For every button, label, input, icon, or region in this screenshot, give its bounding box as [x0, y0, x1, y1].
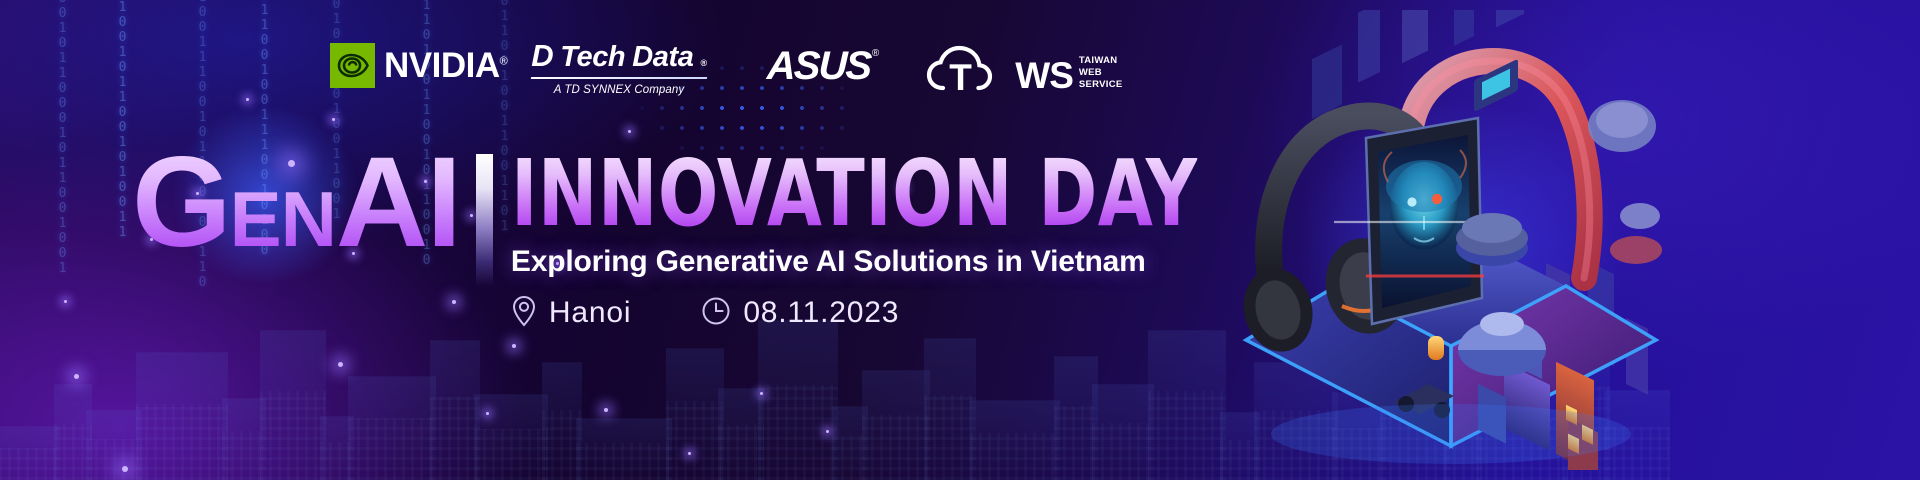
nvidia-wordmark: NVIDIA® [384, 48, 507, 83]
nvidia-eye-icon [330, 43, 375, 88]
binary-column: 10010110001011001001 [56, 0, 69, 276]
skyline-building [260, 330, 326, 480]
event-date-value: 08.11.2023 [743, 298, 899, 328]
skyline-building [348, 376, 436, 480]
nvidia-logo[interactable]: NVIDIA® [330, 36, 507, 88]
sparkle-dot [486, 412, 489, 415]
genai-ai: AI [336, 131, 460, 274]
sparkle-dot [74, 374, 79, 379]
sparkle-dot [338, 362, 343, 367]
skyline-building [0, 426, 60, 480]
nvidia-registered-mark: ® [500, 55, 508, 67]
tws-logo[interactable]: T WS TAIWAN WEB SERVICE [925, 36, 1122, 94]
asus-wordmark: ASUS [766, 46, 871, 86]
sparkle-dot [246, 98, 249, 101]
sparkle-dot [760, 392, 763, 395]
skyline-building [758, 320, 838, 480]
genai-innovation-day-banner: 1001011000101100100101101001011001010011… [0, 0, 1920, 480]
event-date: 08.11.2023 [701, 296, 899, 331]
clock-icon [701, 296, 731, 331]
skyline-building [474, 394, 548, 480]
techdata-logo[interactable]: D Tech Data ® A TD SYNNEX Company [531, 36, 707, 96]
tws-tag-service: SERVICE [1079, 79, 1123, 91]
techdata-word-data: Data [632, 43, 693, 72]
sparkle-dot [64, 300, 67, 303]
tws-tag-taiwan: TAIWAN [1079, 55, 1123, 67]
techdata-underline-rule [531, 77, 707, 79]
tws-letters-ws: WS [1015, 57, 1073, 94]
skyline-building [970, 400, 1060, 480]
skyline-building [666, 348, 724, 480]
artwork-svg [1216, 10, 1686, 470]
techdata-registered-mark: ® [701, 59, 707, 68]
genai-g: G [132, 131, 230, 274]
sparkle-dot [688, 452, 691, 455]
binary-column: 01101001011001010011 [116, 0, 129, 240]
cloud-icon [925, 81, 1017, 98]
headline-divider-bar [476, 154, 493, 286]
techdata-word-tech: Tech [560, 43, 625, 72]
isometric-ai-city-illustration [1216, 10, 1686, 470]
tws-tagline: TAIWAN WEB SERVICE [1079, 55, 1123, 94]
techdata-monogram: D [531, 40, 553, 71]
tws-tag-web: WEB [1079, 67, 1123, 79]
skyline-building [1148, 330, 1226, 480]
genai-en: EN [230, 175, 336, 263]
skyline-building [1092, 384, 1154, 480]
tws-letter-t: T [949, 59, 971, 96]
sparkle-dot [122, 466, 128, 472]
skyline-building [86, 410, 142, 480]
event-location: Hanoi [511, 295, 631, 332]
asus-logo[interactable]: ASUS ® [767, 36, 880, 86]
sparkle-dot [512, 344, 516, 348]
skyline-building [862, 370, 930, 480]
skyline-building [576, 418, 672, 480]
location-pin-icon [511, 295, 537, 332]
sparkle-dot [826, 430, 829, 433]
skyline-building [430, 340, 480, 480]
sparkle-dot [332, 118, 335, 121]
skyline-building [924, 338, 976, 480]
headline-tagline: Exploring Generative AI Solutions in Vie… [511, 245, 1309, 279]
page-title: INNOVATION DAY [511, 152, 1198, 237]
sparkle-dot [604, 408, 608, 412]
headline-block: GENAI INNOVATION DAY Exploring Generativ… [132, 142, 1309, 332]
event-meta-row: Hanoi 08.11.2023 [511, 295, 1309, 332]
sponsor-logo-row: NVIDIA® D Tech Data ® A TD SYNNEX Compan… [330, 36, 1123, 96]
asus-registered-mark: ® [872, 48, 879, 59]
event-location-value: Hanoi [549, 298, 631, 328]
techdata-tagline: A TD SYNNEX Company [531, 84, 707, 96]
skyline-building [136, 352, 228, 480]
genai-wordmark: GENAI [132, 142, 460, 265]
